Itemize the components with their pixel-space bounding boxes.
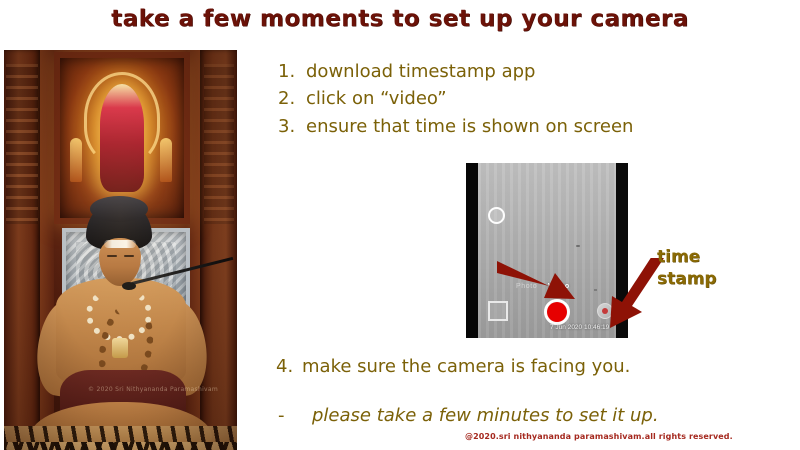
list-item-four: 4. make sure the camera is facing you. [276,356,630,377]
timestamp-callout-line-one: time [657,246,717,268]
video-timestamp: 7 Jun 2020 10:46:19 [550,324,609,331]
closing-dash: - [278,405,312,426]
arrow-timestamp-shape [610,258,664,328]
list-item: 1. download timestamp app [278,58,778,85]
copyright-notice: @2020.sri nithyananda paramashivam.all r… [465,432,733,441]
record-button[interactable] [547,302,567,322]
phone-camera-screenshot: Photo Video 7 Jun 2020 10:46:19 [466,163,628,338]
flash-circle-icon[interactable] [488,207,505,224]
guru-photograph: © 2020 Sri Nithyananda Paramashivam [4,50,237,450]
closing-note: - please take a few minutes to set it up… [278,405,659,426]
step-number: 4. [276,356,302,377]
arrow-video-shape [497,261,575,299]
step-number: 3. [278,113,306,140]
step-text: download timestamp app [306,58,535,85]
step-number: 2. [278,85,306,112]
list-item: 3. ensure that time is shown on screen [278,113,778,140]
timestamp-callout-line-two: stamp [657,268,717,290]
step-text: click on “video” [306,85,447,112]
phone-bezel-left [466,163,478,338]
photo-watermark: © 2020 Sri Nithyananda Paramashivam [88,386,237,393]
page-title: take a few moments to set up your camera [0,6,800,32]
gallery-thumbnail-icon[interactable] [488,301,508,321]
step-text: ensure that time is shown on screen [306,113,633,140]
instruction-list: 1. download timestamp app 2. click on “v… [278,58,778,140]
timestamp-callout: time stamp [657,246,717,291]
list-item: 2. click on “video” [278,85,778,112]
closing-text: please take a few minutes to set it up. [312,405,659,426]
step-text: make sure the camera is facing you. [302,356,630,377]
step-number: 1. [278,58,306,85]
viewfinder-speck [576,245,580,247]
arrow-pointing-to-video [497,259,577,303]
